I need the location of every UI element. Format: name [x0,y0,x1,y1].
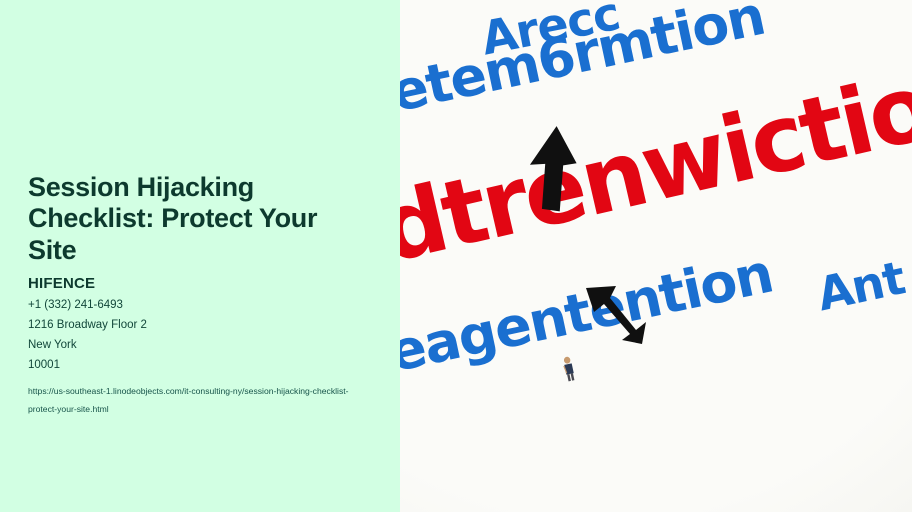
page-root: Session Hijacking Checklist: Protect You… [0,0,912,512]
organization-name: HIFENCE [28,274,368,294]
left-info-panel: Session Hijacking Checklist: Protect You… [0,0,400,512]
page-title: Session Hijacking Checklist: Protect You… [28,172,368,266]
contact-street: 1216 Broadway Floor 2 [28,316,368,336]
contact-phone: +1 (332) 241-6493 [28,296,368,316]
contact-postal-code: 10001 [28,356,368,376]
source-url: https://us-southeast-1.linodeobjects.com… [28,382,350,418]
text-block: Session Hijacking Checklist: Protect You… [28,172,368,418]
person-figure-icon [560,355,577,383]
contact-city: New York [28,336,368,356]
article-image: Arecc etem6rmtion dtrenwictio eagententi… [400,0,912,512]
image-word-anti: Ant [812,250,909,321]
